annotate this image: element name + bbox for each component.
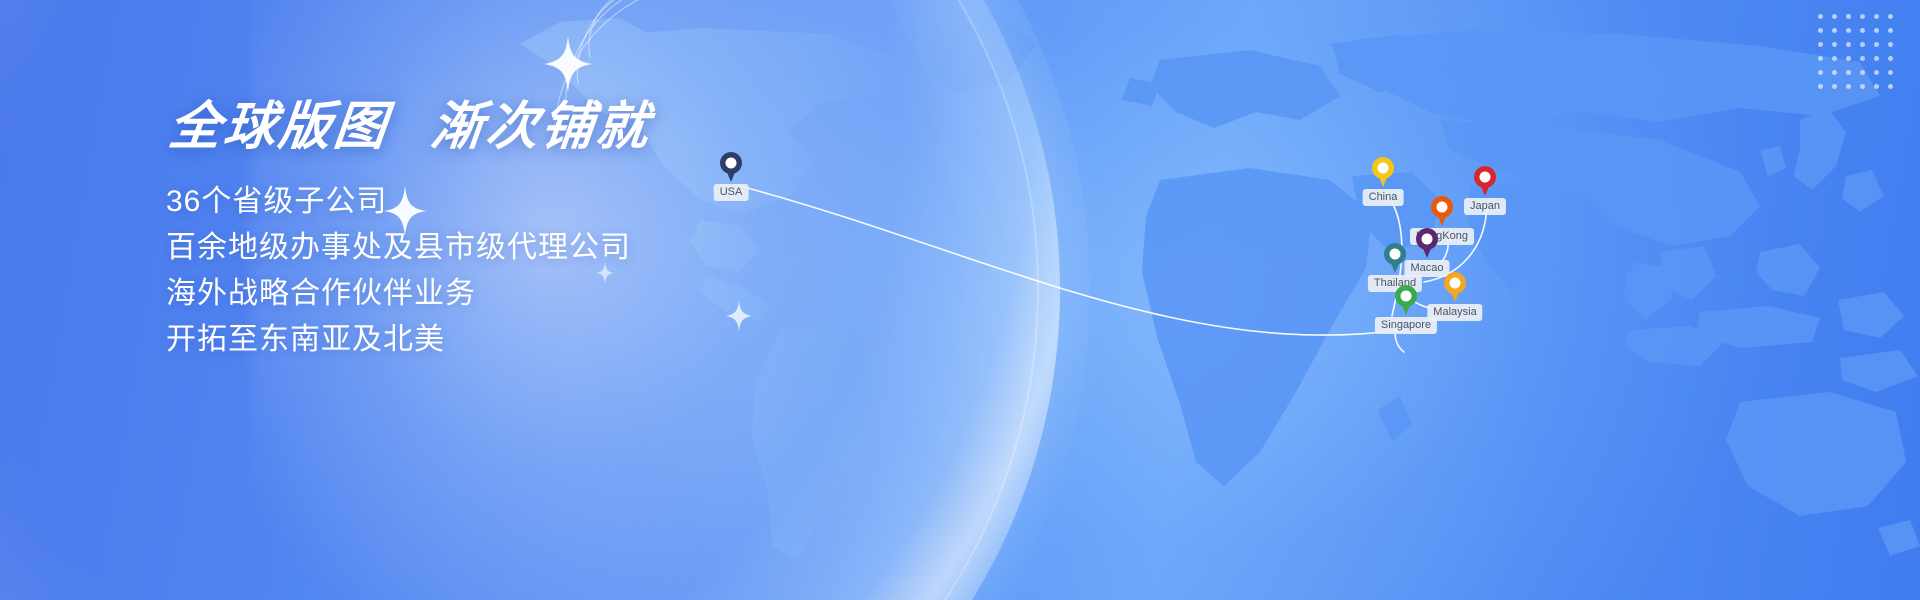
- grid-dot: [1814, 24, 1828, 38]
- map-pin-icon: [1431, 196, 1453, 226]
- grid-dot: [1884, 80, 1898, 94]
- grid-dot: [1814, 80, 1828, 94]
- grid-dot: [1828, 52, 1842, 66]
- map-marker-label: China: [1363, 189, 1404, 206]
- grid-dot: [1828, 24, 1842, 38]
- grid-dot: [1842, 66, 1856, 80]
- grid-dot: [1842, 80, 1856, 94]
- grid-dot: [1856, 10, 1870, 24]
- grid-dot: [1828, 66, 1842, 80]
- pin-center-dot: [1401, 291, 1412, 302]
- grid-dot: [1842, 24, 1856, 38]
- map-pin-icon: [1384, 243, 1406, 273]
- pin-center-dot: [1450, 278, 1461, 289]
- global-map-banner: 全球版图 渐次铺就 36个省级子公司 百余地级办事处及县市级代理公司 海外战略合…: [0, 0, 1920, 600]
- pin-center-dot: [1390, 249, 1401, 260]
- grid-dot: [1856, 80, 1870, 94]
- grid-dot: [1856, 38, 1870, 52]
- grid-dot: [1870, 24, 1884, 38]
- pin-center-dot: [1378, 163, 1389, 174]
- map-marker-label: Singapore: [1375, 317, 1437, 334]
- subtitle-line: 百余地级办事处及县市级代理公司: [166, 225, 926, 271]
- subtitle-list: 36个省级子公司 百余地级办事处及县市级代理公司 海外战略合作伙伴业务 开拓至东…: [166, 179, 926, 363]
- grid-dot: [1814, 10, 1828, 24]
- grid-dot: [1842, 10, 1856, 24]
- page-title: 全球版图 渐次铺就: [166, 100, 932, 155]
- map-marker-thailand[interactable]: Thailand: [1384, 243, 1406, 273]
- map-marker-usa[interactable]: USA: [720, 152, 742, 182]
- grid-dot: [1884, 66, 1898, 80]
- map-marker-label: USA: [714, 184, 749, 201]
- pin-center-dot: [1422, 234, 1433, 245]
- grid-dot: [1828, 38, 1842, 52]
- subtitle-line: 海外战略合作伙伴业务: [166, 271, 926, 317]
- pin-center-dot: [726, 158, 737, 169]
- map-marker-china[interactable]: China: [1372, 157, 1394, 187]
- grid-dot: [1814, 38, 1828, 52]
- map-pin-icon: [1444, 272, 1466, 302]
- map-marker-japan[interactable]: Japan: [1474, 166, 1496, 196]
- map-pin-icon: [1474, 166, 1496, 196]
- map-marker-hongkong[interactable]: HongKong: [1431, 196, 1453, 226]
- grid-dot: [1870, 10, 1884, 24]
- grid-dot: [1842, 52, 1856, 66]
- grid-dot: [1814, 66, 1828, 80]
- grid-dot: [1870, 66, 1884, 80]
- pin-center-dot: [1480, 172, 1491, 183]
- grid-dot: [1870, 80, 1884, 94]
- grid-dot: [1842, 38, 1856, 52]
- map-marker-label: Japan: [1464, 198, 1506, 215]
- grid-dot: [1870, 52, 1884, 66]
- grid-dot: [1856, 66, 1870, 80]
- grid-dot: [1884, 24, 1898, 38]
- grid-dot: [1856, 24, 1870, 38]
- map-marker-singapore[interactable]: Singapore: [1395, 285, 1417, 315]
- map-marker-malaysia[interactable]: Malaysia: [1444, 272, 1466, 302]
- map-marker-macao[interactable]: Macao: [1416, 228, 1438, 258]
- grid-dot: [1828, 10, 1842, 24]
- grid-dot: [1870, 38, 1884, 52]
- map-pin-icon: [1395, 285, 1417, 315]
- pin-center-dot: [1437, 202, 1448, 213]
- map-pin-icon: [1372, 157, 1394, 187]
- subtitle-line: 36个省级子公司: [166, 179, 926, 225]
- map-pin-icon: [720, 152, 742, 182]
- grid-dot: [1884, 38, 1898, 52]
- grid-dot: [1884, 10, 1898, 24]
- grid-dot: [1884, 52, 1898, 66]
- grid-dot: [1814, 52, 1828, 66]
- subtitle-line: 开拓至东南亚及北美: [166, 317, 926, 363]
- map-pin-icon: [1416, 228, 1438, 258]
- dot-grid-decoration: [1814, 10, 1898, 94]
- grid-dot: [1828, 80, 1842, 94]
- banner-copy: 全球版图 渐次铺就 36个省级子公司 百余地级办事处及县市级代理公司 海外战略合…: [166, 100, 926, 363]
- grid-dot: [1856, 52, 1870, 66]
